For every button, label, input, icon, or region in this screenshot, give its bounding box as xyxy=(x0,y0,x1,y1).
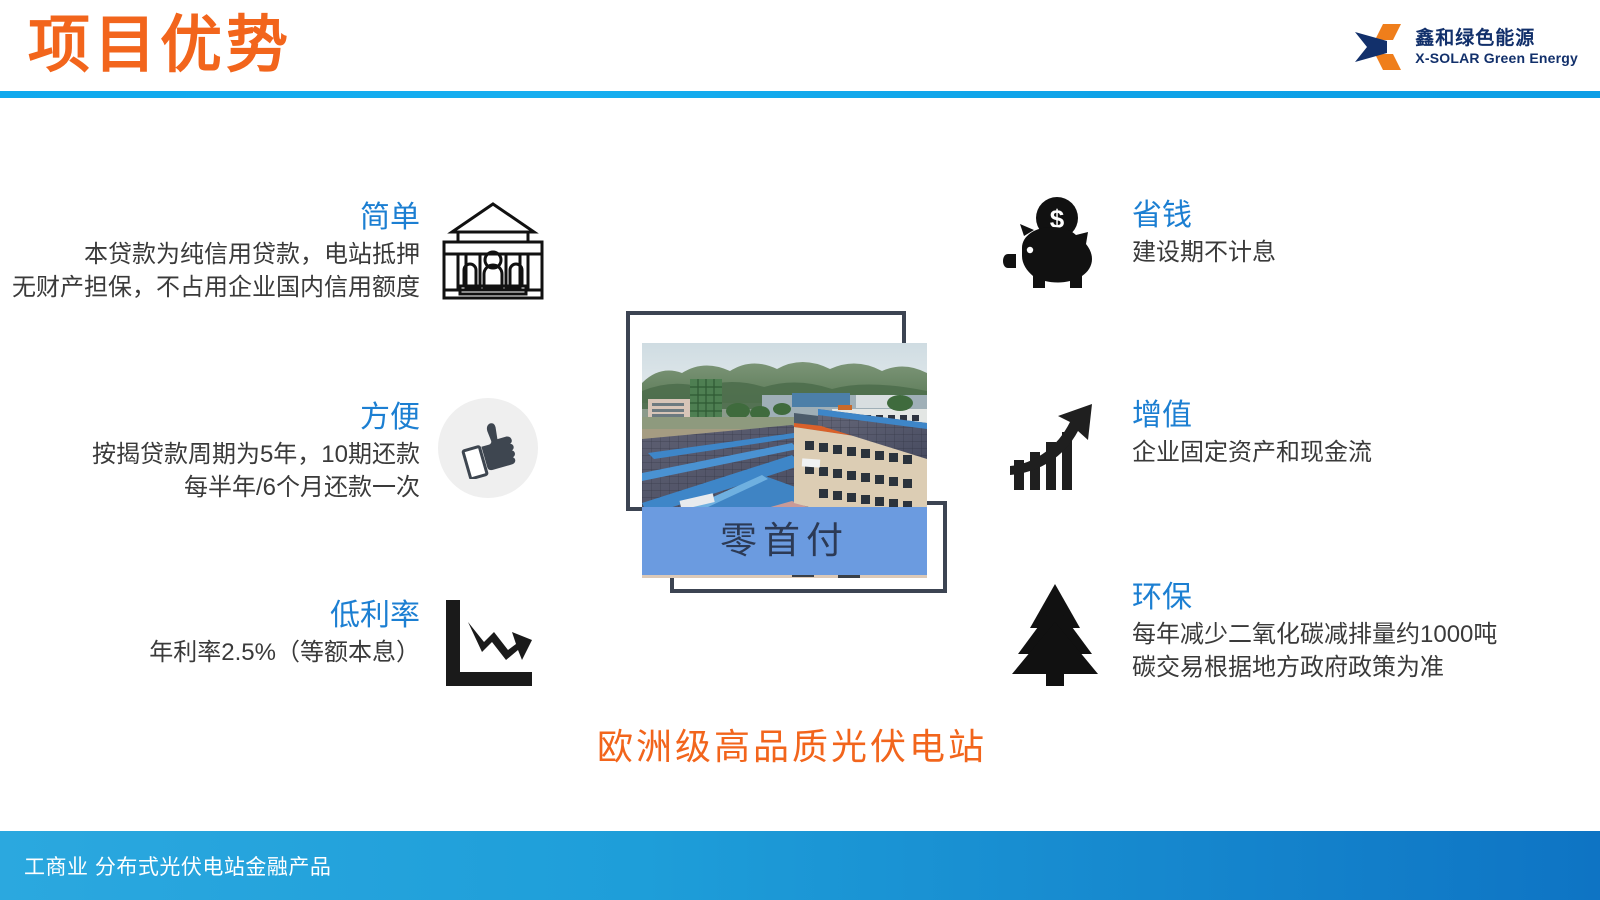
feature-item-green: 环保 每年减少二氧化碳减排量约1000吨 碳交易根据地方政府政策为准 xyxy=(1000,578,1562,688)
x-solar-logo-icon xyxy=(1353,22,1405,72)
feature-text-block: 简单 本贷款为纯信用贷款，电站抵押 无财产担保，不占用企业国内信用额度 xyxy=(10,198,438,304)
feature-text-block: 低利率 年利率2.5%（等额本息） xyxy=(10,596,438,669)
slide-footer: 工商业 分布式光伏电站金融产品 xyxy=(0,831,1600,900)
feature-line-1: 每年减少二氧化碳减排量约1000吨 xyxy=(1132,618,1562,651)
slide-root: 项目优势 鑫和绿色能源 X-SOLAR Green Energy 简单 本贷款为… xyxy=(0,0,1600,900)
center-caption-text: 欧洲级高品质光伏电站 xyxy=(597,718,987,770)
feature-title: 简单 xyxy=(10,198,420,238)
center-caption: 欧洲级高品质光伏电站 xyxy=(0,718,1600,770)
feature-line-1: 按揭贷款周期为5年，10期还款 xyxy=(10,438,420,471)
piggy-bank-icon: $ xyxy=(1000,196,1110,296)
feature-title: 方便 xyxy=(10,398,420,438)
zero-down-payment-banner: 零首付 xyxy=(642,507,927,575)
feature-line-2: 碳交易根据地方政府政策为准 xyxy=(1132,651,1562,684)
logo-name-en: X-SOLAR Green Energy xyxy=(1415,50,1578,66)
feature-title: 环保 xyxy=(1132,578,1562,618)
feature-line-1: 企业固定资产和现金流 xyxy=(1132,436,1562,469)
feature-item-low-rate: 低利率 年利率2.5%（等额本息） xyxy=(10,596,538,691)
slide-header: 项目优势 鑫和绿色能源 X-SOLAR Green Energy xyxy=(0,0,1600,100)
header-divider xyxy=(0,91,1600,98)
bank-icon xyxy=(438,198,548,303)
feature-line-1: 本贷款为纯信用贷款，电站抵押 xyxy=(10,238,420,271)
feature-text-block: 省钱 建设期不计息 xyxy=(1110,196,1562,269)
feature-text-block: 方便 按揭贷款周期为5年，10期还款 每半年/6个月还款一次 xyxy=(10,398,438,504)
logo-name-cn: 鑫和绿色能源 xyxy=(1415,28,1578,50)
page-title: 项目优势 xyxy=(28,8,292,84)
feature-line-1: 建设期不计息 xyxy=(1132,236,1562,269)
feature-line-2: 每半年/6个月还款一次 xyxy=(10,471,420,504)
feature-title: 低利率 xyxy=(10,596,420,636)
feature-text-block: 环保 每年减少二氧化碳减排量约1000吨 碳交易根据地方政府政策为准 xyxy=(1110,578,1562,684)
footer-label: 工商业 分布式光伏电站金融产品 xyxy=(24,851,331,881)
feature-line-1: 年利率2.5%（等额本息） xyxy=(10,636,420,669)
feature-title: 省钱 xyxy=(1132,196,1562,236)
feature-item-value: 增值 企业固定资产和现金流 xyxy=(1000,396,1562,496)
banner-label: 零首付 xyxy=(720,507,849,575)
feature-title: 增值 xyxy=(1132,396,1562,436)
feature-item-simple: 简单 本贷款为纯信用贷款，电站抵押 无财产担保，不占用企业国内信用额度 xyxy=(10,198,548,304)
center-photo-block: 零首付 xyxy=(612,305,962,605)
feature-item-saving: $ 省钱 建设期不计息 xyxy=(1000,196,1562,296)
growth-arrow-icon xyxy=(1000,396,1110,496)
tree-icon xyxy=(1000,578,1110,688)
logo-wordmark: 鑫和绿色能源 X-SOLAR Green Energy xyxy=(1415,28,1578,66)
company-logo: 鑫和绿色能源 X-SOLAR Green Energy xyxy=(1353,18,1578,76)
declining-chart-icon xyxy=(438,596,538,691)
thumbs-up-circle xyxy=(438,398,538,498)
feature-text-block: 增值 企业固定资产和现金流 xyxy=(1110,396,1562,469)
feature-line-2: 无财产担保，不占用企业国内信用额度 xyxy=(10,271,420,304)
feature-item-convenient: 方便 按揭贷款周期为5年，10期还款 每半年/6个月还款一次 xyxy=(10,398,538,504)
thumbs-up-badge xyxy=(438,398,538,498)
